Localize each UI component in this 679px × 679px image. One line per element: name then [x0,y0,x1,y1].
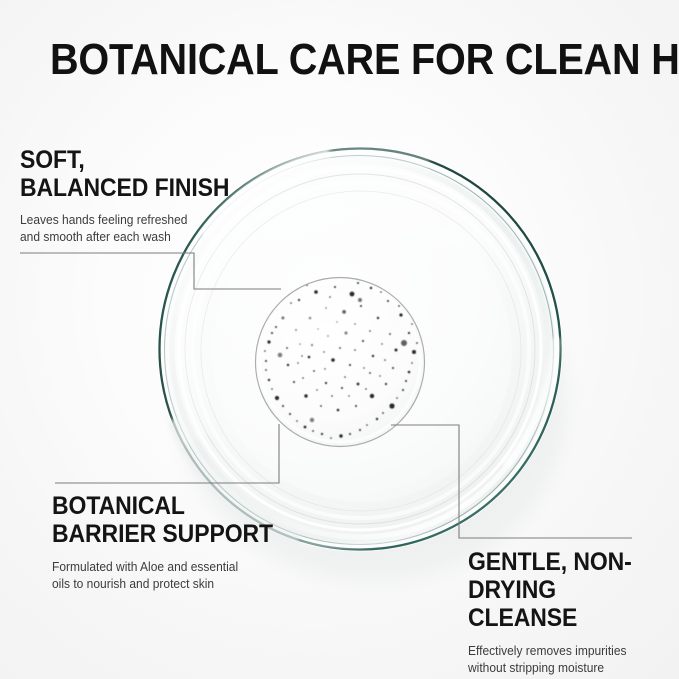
page-title: BOTANICAL CARE FOR CLEAN HANDS [50,36,590,84]
callout-body: Leaves hands feeling refreshed and smoot… [20,212,260,246]
callout-title: GENTLE, NON- DRYING CLEANSE [468,548,661,632]
infographic-canvas: BOTANICAL CARE FOR CLEAN HANDS SOFT, BAL… [0,0,679,679]
callout-body: Effectively removes impurities without s… [468,643,670,677]
callout-gentle-non-drying-cleanse: GENTLE, NON- DRYING CLEANSE Effectively … [468,548,678,677]
callout-title: SOFT, BALANCED FINISH [20,146,250,202]
callout-soft-balanced-finish: SOFT, BALANCED FINISH Leaves hands feeli… [20,146,270,246]
callout-botanical-barrier-support: BOTANICAL BARRIER SUPPORT Formulated wit… [52,492,312,593]
callout-title: BOTANICAL BARRIER SUPPORT [52,492,291,548]
callout-body: Formulated with Aloe and essential oils … [52,559,302,593]
